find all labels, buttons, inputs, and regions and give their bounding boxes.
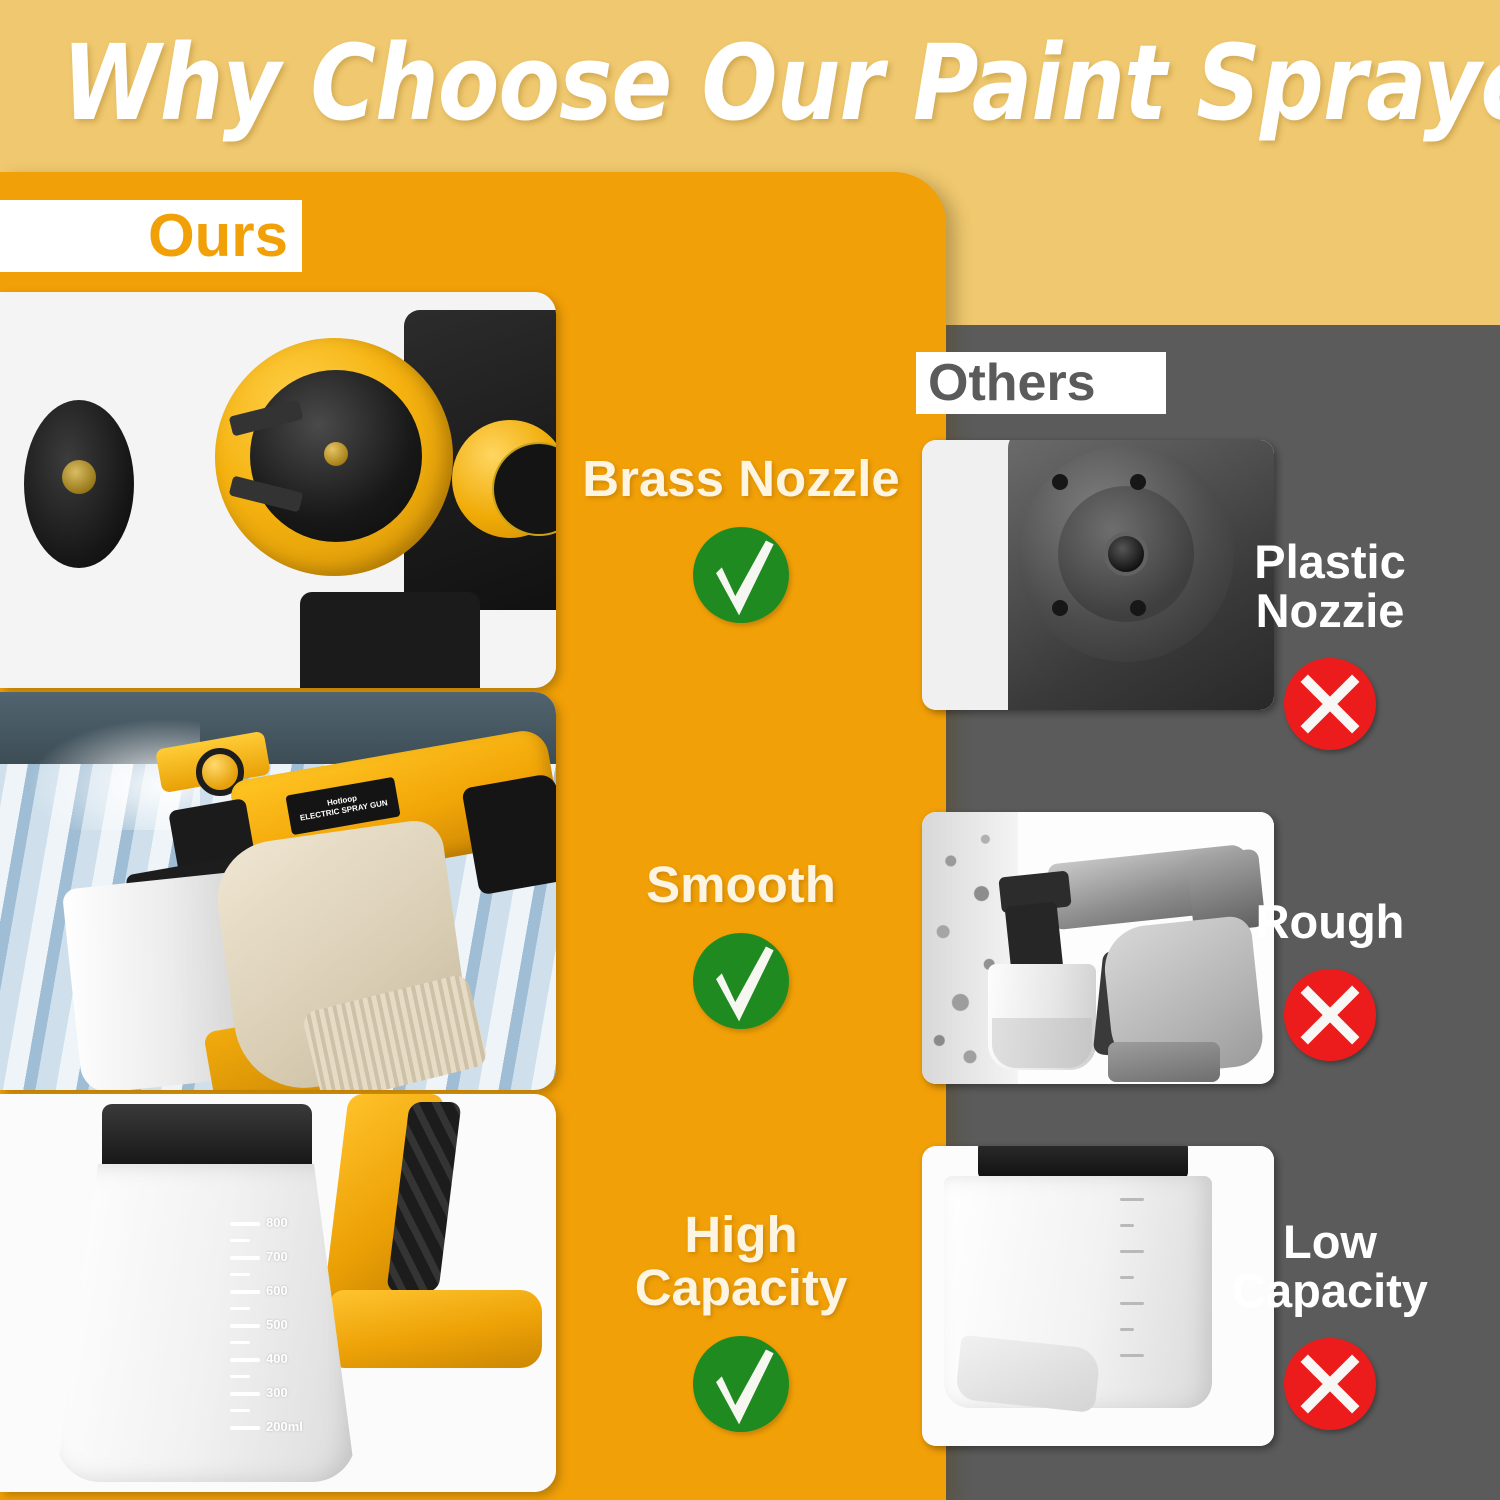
detached-cap-brass-tip	[62, 460, 96, 494]
page-title: Why Choose Our Paint Sprayer?	[62, 22, 1266, 145]
container-cap	[978, 1146, 1188, 1180]
others-banner-label: Others	[928, 357, 1096, 409]
battery-base	[330, 1290, 542, 1368]
cross-circle-icon	[1284, 1338, 1376, 1430]
scale-tick-minor	[230, 1375, 250, 1378]
screw-hole-bottom-right	[1130, 600, 1146, 616]
scale-value: 300	[266, 1385, 288, 1400]
scale-tick-major	[230, 1290, 260, 1294]
scale-value: 400	[266, 1351, 288, 1366]
feature-rough: Rough	[1180, 898, 1480, 1066]
paint-level	[992, 1018, 1092, 1068]
sprayer-handle	[300, 592, 480, 688]
scale-tick-major	[230, 1392, 260, 1396]
container-cap	[102, 1104, 312, 1170]
cross-circle-icon	[1284, 658, 1376, 750]
scale-tick	[1120, 1328, 1134, 1331]
scale-tick-major	[230, 1324, 260, 1328]
scale-value: 700	[266, 1249, 288, 1264]
feature-label: Low Capacity	[1180, 1218, 1480, 1316]
scale-tick	[1120, 1276, 1134, 1279]
ours-banner-label: Ours	[148, 206, 288, 266]
feature-label: High Capacity	[566, 1208, 916, 1314]
capacity-scale: 800700600500400300200ml	[230, 1222, 340, 1462]
scale-tick-major	[230, 1426, 260, 1430]
scale-tick	[1120, 1354, 1144, 1357]
feature-plastic-nozzle: Plastic Nozzie	[1180, 538, 1480, 755]
feature-brass-nozzle: Brass Nozzle	[566, 452, 916, 628]
scale-value: 500	[266, 1317, 288, 1332]
feature-label: Rough	[1180, 898, 1480, 947]
scale-value: 600	[266, 1283, 288, 1298]
screw-hole-bottom-left	[1052, 600, 1068, 616]
feature-label: Smooth	[566, 858, 916, 911]
brass-tip	[324, 442, 348, 466]
scale-value: 800	[266, 1215, 288, 1230]
scale-tick-major	[230, 1358, 260, 1362]
plastic-tip	[1104, 532, 1148, 576]
sprayer-in-use-smooth-finish-photo: Hotloop ELECTRIC SPRAY GUN	[0, 692, 556, 1090]
comparison-infographic: Why Choose Our Paint Sprayer?	[0, 0, 1500, 1500]
scale-tick-minor	[230, 1307, 250, 1310]
screw-hole-top-right	[1130, 474, 1146, 490]
scale-tick-minor	[230, 1409, 250, 1412]
feature-label: Brass Nozzle	[566, 452, 916, 505]
check-circle-icon	[693, 933, 789, 1029]
scale-tick	[1120, 1198, 1144, 1201]
scale-tick-minor	[230, 1239, 250, 1242]
ours-banner: Ours	[0, 200, 302, 272]
feature-high-capacity: High Capacity	[566, 1208, 916, 1437]
others-banner: Others	[916, 352, 1166, 414]
scale-tick-minor	[230, 1341, 250, 1344]
feature-label: Plastic Nozzie	[1180, 538, 1480, 636]
scale-tick	[1120, 1302, 1144, 1305]
scale-tick-minor	[230, 1273, 250, 1276]
scale-tick	[1120, 1224, 1134, 1227]
check-circle-icon	[693, 1336, 789, 1432]
feature-low-capacity: Low Capacity	[1180, 1218, 1480, 1435]
large-capacity-paint-container-photo: 800700600500400300200ml	[0, 1094, 556, 1492]
scale-value: 200ml	[266, 1419, 303, 1434]
cross-circle-icon	[1284, 969, 1376, 1061]
scale-tick-major	[230, 1222, 260, 1226]
scale-tick-major	[230, 1256, 260, 1260]
screw-hole-top-left	[1052, 474, 1068, 490]
brass-nozzle-closeup-photo	[0, 292, 556, 688]
check-circle-icon	[693, 527, 789, 623]
title-band: Why Choose Our Paint Sprayer?	[0, 0, 1500, 172]
scale-tick	[1120, 1250, 1144, 1253]
feature-smooth: Smooth	[566, 858, 916, 1034]
